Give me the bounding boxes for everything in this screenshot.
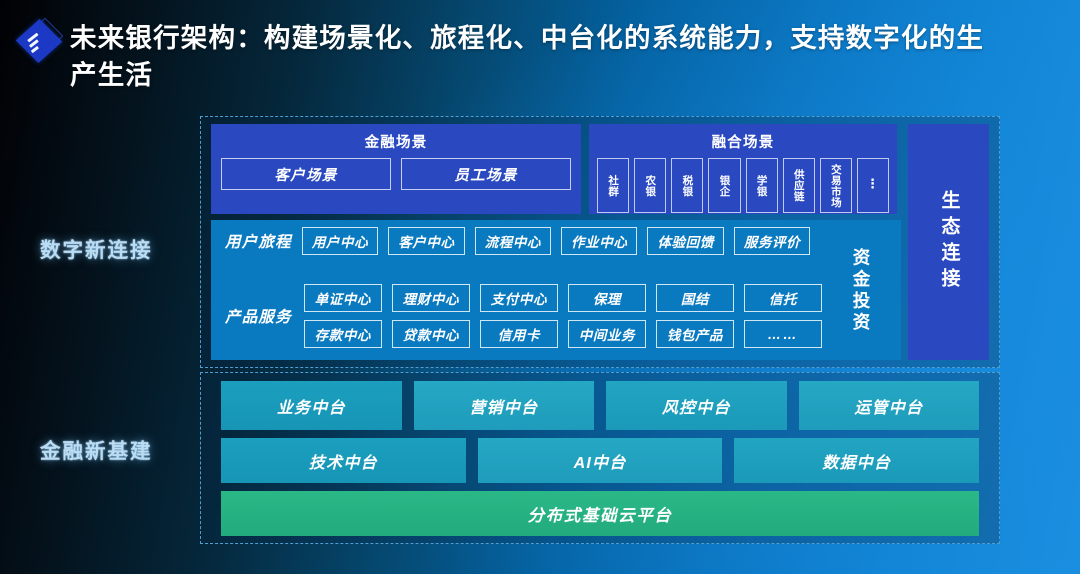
financial-scene-boxes: 客户场景 员工场景 <box>221 158 571 190</box>
platform-tile-operations[interactable]: 运管中台 <box>799 381 980 430</box>
platform-row-2: 技术中台 AI中台 数据中台 <box>221 438 979 483</box>
product-item-wallet-product[interactable]: 钱包产品 <box>656 320 734 348</box>
platform-tile-marketing[interactable]: 营销中台 <box>414 381 595 430</box>
blend-box-trading-market[interactable]: 交易市场 <box>820 158 852 213</box>
journey-item-experience-feedback[interactable]: 体验回馈 <box>647 227 723 255</box>
panel-blend-scene: 融合场景 社群 农银 税银 银企 学银 供应链 交易市场 ⋮ <box>589 124 897 214</box>
fund-investment-label: 资金投资 <box>849 248 873 334</box>
blend-box-supply-chain[interactable]: 供应链 <box>783 158 815 213</box>
product-row-1: 单证中心 理财中心 支付中心 保理 国结 信托 <box>304 284 822 312</box>
platform-tile-data[interactable]: 数据中台 <box>734 438 979 483</box>
blend-box-more[interactable]: ⋮ <box>857 158 889 213</box>
product-item-trust[interactable]: 信托 <box>744 284 822 312</box>
product-item-intl-settlement[interactable]: 国结 <box>656 284 734 312</box>
ecology-connection-column[interactable]: 生态连接 <box>908 124 989 360</box>
journey-item-service-rating[interactable]: 服务评价 <box>734 227 810 255</box>
product-item-credit-card[interactable]: 信用卡 <box>480 320 558 348</box>
user-journey-row: 用户旅程 用户中心 客户中心 流程中心 作业中心 体验回馈 服务评价 <box>211 220 822 262</box>
journey-item-operation-center[interactable]: 作业中心 <box>561 227 637 255</box>
panel-financial-scene: 金融场景 客户场景 员工场景 <box>211 124 581 214</box>
page-title: 未来银行架构：构建场景化、旅程化、中台化的系统能力，支持数字化的生产生活 <box>70 14 1000 94</box>
blend-box-agri-bank[interactable]: 农银 <box>634 158 666 213</box>
product-item-more[interactable]: …… <box>744 320 822 348</box>
product-service-grid: 单证中心 理财中心 支付中心 保理 国结 信托 存款中心 贷款中心 信用卡 中间… <box>304 284 822 348</box>
blend-box-school-bank[interactable]: 学银 <box>746 158 778 213</box>
fund-investment-column[interactable]: 资金投资 <box>826 226 896 356</box>
product-item-payment-center[interactable]: 支付中心 <box>480 284 558 312</box>
blend-box-bank-enterprise[interactable]: 银企 <box>708 158 740 213</box>
ecology-connection-label: 生态连接 <box>936 190 962 294</box>
platform-row-1: 业务中台 营销中台 风控中台 运管中台 <box>221 381 979 430</box>
platform-tile-technology[interactable]: 技术中台 <box>221 438 466 483</box>
scene-box-customer[interactable]: 客户场景 <box>221 158 391 190</box>
panel-blend-scene-heading: 融合场景 <box>712 131 775 152</box>
journey-item-user-center[interactable]: 用户中心 <box>302 227 378 255</box>
scenario-row: 金融场景 客户场景 员工场景 融合场景 社群 农银 税银 银企 学银 供应链 交… <box>211 124 989 214</box>
product-item-intermediary-business[interactable]: 中间业务 <box>568 320 646 348</box>
blend-box-tax-bank[interactable]: 税银 <box>671 158 703 213</box>
journey-item-customer-center[interactable]: 客户中心 <box>388 227 464 255</box>
slide-canvas: 未来银行架构：构建场景化、旅程化、中台化的系统能力，支持数字化的生产生活 数字新… <box>0 0 1080 574</box>
distributed-cloud-platform-label: 分布式基础云平台 <box>528 502 673 526</box>
journey-item-process-center[interactable]: 流程中心 <box>475 227 551 255</box>
product-service-title: 产品服务 <box>225 305 292 327</box>
scene-box-employee[interactable]: 员工场景 <box>401 158 571 190</box>
slide-header: 未来银行架构：构建场景化、旅程化、中台化的系统能力，支持数字化的生产生活 <box>0 0 1080 104</box>
platform-tile-business[interactable]: 业务中台 <box>221 381 402 430</box>
product-row-2: 存款中心 贷款中心 信用卡 中间业务 钱包产品 …… <box>304 320 822 348</box>
platform-tile-risk-control[interactable]: 风控中台 <box>606 381 787 430</box>
distributed-cloud-platform-bar[interactable]: 分布式基础云平台 <box>221 491 979 536</box>
product-item-document-center[interactable]: 单证中心 <box>304 284 382 312</box>
product-item-wealth-center[interactable]: 理财中心 <box>392 284 470 312</box>
platform-tile-ai[interactable]: AI中台 <box>478 438 723 483</box>
product-service-row: 产品服务 单证中心 理财中心 支付中心 保理 国结 信托 存款中心 贷款中心 信… <box>211 272 822 360</box>
diamond-slash-logo-icon <box>16 18 64 66</box>
side-label-financial-infrastructure: 金融新基建 <box>40 434 153 464</box>
product-item-loan-center[interactable]: 贷款中心 <box>392 320 470 348</box>
blend-scene-boxes: 社群 农银 税银 银企 学银 供应链 交易市场 ⋮ <box>597 158 889 213</box>
product-item-factoring[interactable]: 保理 <box>568 284 646 312</box>
side-label-digital-connect: 数字新连接 <box>40 233 153 263</box>
user-journey-title: 用户旅程 <box>225 230 292 252</box>
product-item-deposit-center[interactable]: 存款中心 <box>304 320 382 348</box>
blend-box-community[interactable]: 社群 <box>597 158 629 213</box>
panel-financial-scene-heading: 金融场景 <box>365 131 428 152</box>
